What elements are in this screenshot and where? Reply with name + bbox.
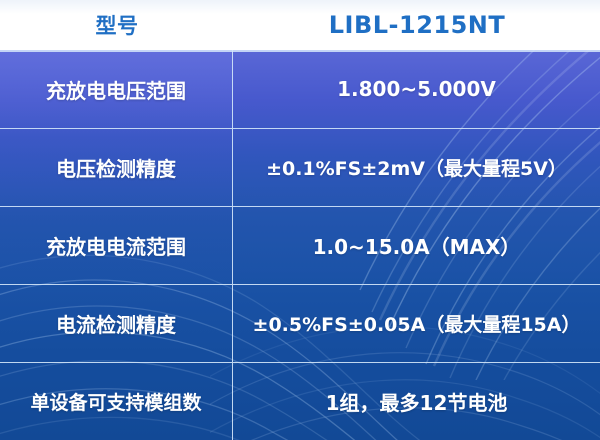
row-label: 充放电电压范围 [0,50,233,128]
row-label: 充放电电流范围 [0,207,233,284]
row-value: 1.800~5.000V [233,50,600,128]
row-label: 电压检测精度 [0,129,233,206]
spec-rows-container: 充放电电压范围 1.800~5.000V 电压检测精度 ±0.1%FS±2mV（… [0,50,600,440]
row-value: ±0.1%FS±2mV（最大量程5V） [233,129,600,206]
row-value: 1组，最多12节电池 [233,363,600,440]
specification-table: 型号 LIBL-1215NT [0,0,600,440]
table-row: 充放电电流范围 1.0~15.0A（MAX） [0,206,600,284]
table-top-edge [0,50,600,52]
table-row: 充放电电压范围 1.800~5.000V [0,50,600,128]
table-header-row: 型号 LIBL-1215NT [0,0,600,50]
table-row: 电流检测精度 ±0.5%FS±0.05A（最大量程15A） [0,284,600,362]
table-row: 单设备可支持模组数 1组，最多12节电池 [0,362,600,440]
table-row: 电压检测精度 ±0.1%FS±2mV（最大量程5V） [0,128,600,206]
row-label: 单设备可支持模组数 [0,363,233,440]
row-value: ±0.5%FS±0.05A（最大量程15A） [233,285,600,362]
table-body: 充放电电压范围 1.800~5.000V 电压检测精度 ±0.1%FS±2mV（… [0,50,600,440]
row-value: 1.0~15.0A（MAX） [233,207,600,284]
header-cell-model-label: 型号 [0,0,234,50]
header-cell-model-number: LIBL-1215NT [234,0,600,50]
row-label: 电流检测精度 [0,285,233,362]
